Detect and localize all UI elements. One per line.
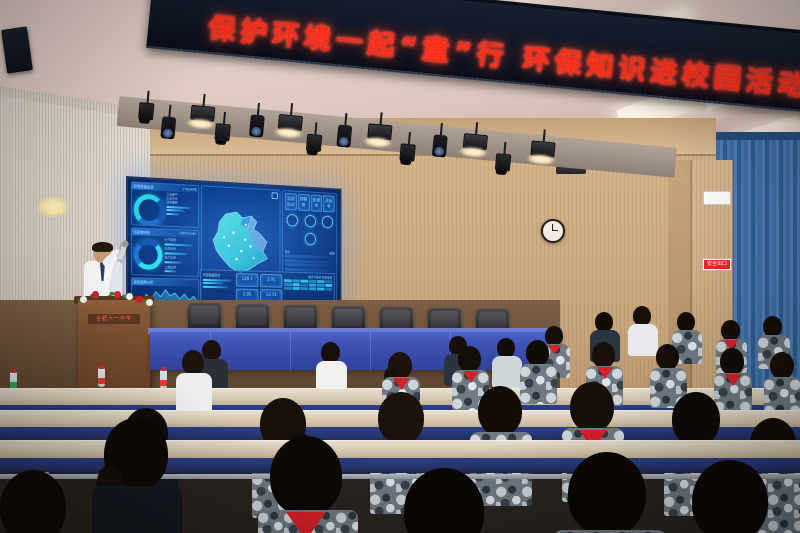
donut-chart — [134, 239, 163, 270]
exit-sign-label: 安全出口 — [704, 260, 730, 269]
row-label: 噪声监测 — [164, 256, 196, 261]
fresnel-lamp-icon — [278, 114, 303, 131]
card1-value: 17628/吨 — [182, 186, 196, 192]
stat-tile: 预警数 — [298, 194, 310, 212]
gauge-ring — [304, 233, 315, 246]
fresnel-lamp-icon — [367, 123, 392, 140]
card-pollutant-emission: 污染物排放 30890/kwh 大气监测 水质监测 噪声监测 土壤监测 — [131, 227, 199, 277]
legend-item: 固体废物 — [166, 200, 196, 205]
fresnel-lamp-icon — [190, 105, 215, 122]
fullscreen-icon[interactable] — [272, 192, 278, 199]
moving-head-lamp-icon — [432, 134, 448, 157]
wall-notice-sign — [703, 191, 731, 205]
row-label: 大气监测 — [164, 238, 196, 243]
gauge-ring — [287, 214, 298, 227]
par-lamp-icon — [399, 143, 416, 161]
moving-head-lamp-icon — [160, 116, 176, 139]
dashboard-left-panel: 环境质量监测 17628/吨 工业废气 生活污水 固体废物 — [131, 181, 199, 302]
table-header: 站点 — [285, 250, 290, 254]
kpi-tile: 3.91 — [260, 274, 282, 288]
par-lamp-icon — [138, 102, 155, 120]
moving-head-lamp-icon — [249, 114, 265, 137]
stat-tile: 监测站点 — [285, 193, 297, 211]
par-lamp-icon — [214, 123, 231, 141]
donut-chart — [134, 193, 165, 226]
gauge-ring — [304, 215, 315, 228]
gauge-ring — [322, 216, 333, 229]
podium-plate-text: 合肥六一中学 — [88, 314, 140, 324]
water-bottle — [98, 368, 105, 387]
row-label: 水质监测 — [164, 247, 196, 252]
par-lamp-icon — [495, 153, 512, 171]
fresnel-lamp-icon — [463, 133, 488, 150]
stat-tile: 达标率 — [323, 195, 335, 212]
moving-head-lamp-icon — [336, 124, 352, 147]
flower-arrangement — [76, 286, 156, 312]
kpi-tile: 128.7 — [236, 273, 258, 287]
stat-tile: 处理率 — [310, 194, 322, 211]
card2-value: 30890/kwh — [179, 231, 197, 236]
bottom-section-title: 环保数据统计 — [203, 272, 234, 278]
microphone-icon — [118, 244, 128, 261]
photo-scene: 安全出口 保护环境一起“童”行 环保知识进校园活动 环境质量监测 — [0, 0, 800, 533]
water-bottle — [10, 372, 17, 391]
presentation-screen[interactable]: 环境质量监测 17628/吨 工业废气 生活污水 固体废物 — [126, 176, 341, 309]
row-label: 土壤监测 — [164, 265, 196, 270]
card-environment-quality: 环境质量监测 17628/吨 工业废气 生活污水 固体废物 — [131, 181, 199, 228]
exit-sign: 安全出口 — [702, 258, 732, 271]
table-header: 数值 — [330, 251, 335, 255]
wall-clock-icon — [541, 219, 565, 243]
fresnel-lamp-icon — [530, 140, 555, 157]
wall-lamp — [36, 196, 70, 218]
par-lamp-icon — [306, 134, 323, 152]
water-bottle — [160, 370, 167, 389]
